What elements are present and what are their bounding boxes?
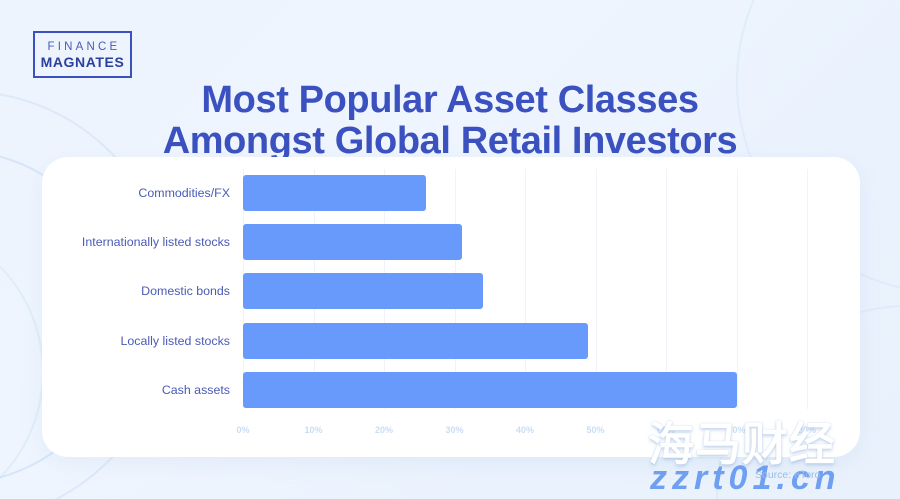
chart-bar[interactable] (243, 273, 483, 309)
chart-bar[interactable] (243, 323, 588, 359)
x-axis-tick-label: 0% (236, 425, 249, 435)
chart-row: Commodities/FX (42, 175, 860, 211)
x-axis-tick-label: 60% (657, 425, 675, 435)
logo-line-magnates: MAGNATES (41, 54, 125, 70)
bar-category-label: Internationally listed stocks (82, 224, 230, 260)
infographic-canvas: FINANCE MAGNATES Most Popular Asset Clas… (0, 0, 900, 499)
x-axis-tick-label: 40% (516, 425, 534, 435)
x-axis-tick-label: 80% (798, 425, 816, 435)
chart-bar[interactable] (243, 175, 426, 211)
chart-row: Internationally listed stocks (42, 224, 860, 260)
bar-category-label: Locally listed stocks (121, 323, 231, 359)
chart-row: Locally listed stocks (42, 323, 860, 359)
bar-category-label: Domestic bonds (141, 273, 230, 309)
chart-row: Cash assets (42, 372, 860, 408)
source-caption: Source: eToro (755, 469, 820, 481)
bar-chart: 0%10%20%30%40%50%60%70%80%Commodities/FX… (42, 157, 860, 457)
bar-category-label: Commodities/FX (138, 175, 230, 211)
chart-bar[interactable] (243, 372, 737, 408)
logo-line-finance: FINANCE (45, 40, 121, 54)
title-line-1: Most Popular Asset Classes (0, 80, 900, 121)
x-axis-tick-label: 50% (586, 425, 604, 435)
bar-category-label: Cash assets (162, 372, 230, 408)
x-axis-tick-label: 30% (445, 425, 463, 435)
background-swirl-decoration (0, 220, 44, 499)
x-axis-tick-label: 20% (375, 425, 393, 435)
chart-row: Domestic bonds (42, 273, 860, 309)
page-title: Most Popular Asset Classes Amongst Globa… (0, 80, 900, 162)
finance-magnates-logo: FINANCE MAGNATES (33, 31, 132, 78)
chart-bar[interactable] (243, 224, 462, 260)
x-axis-tick-label: 10% (304, 425, 322, 435)
chart-card: 0%10%20%30%40%50%60%70%80%Commodities/FX… (42, 157, 860, 457)
x-axis-tick-label: 70% (727, 425, 745, 435)
